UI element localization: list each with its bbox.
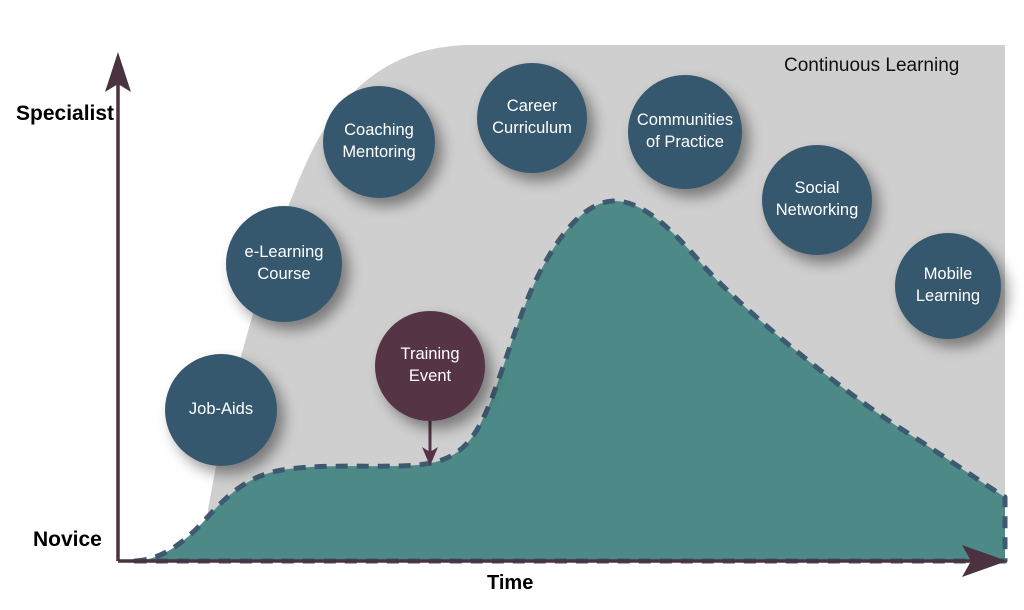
learning-curve-diagram: Continuous Learning Specialist Novice Ti… — [0, 0, 1024, 610]
bubble-label-line: Mobile — [924, 264, 973, 286]
bubble-label-line: Communities — [637, 110, 733, 132]
bubble-label-line: Curriculum — [492, 118, 572, 140]
bubble-label-line: Course — [257, 264, 310, 286]
bubble-label-line: Career — [507, 96, 557, 118]
bubble-label-line: Job-Aids — [189, 399, 253, 421]
bubble-mobile-learning[interactable]: MobileLearning — [895, 233, 1001, 339]
x-axis-label: Time — [487, 572, 533, 595]
bubble-job-aids[interactable]: Job-Aids — [165, 354, 277, 466]
bubble-label-line: Coaching — [344, 120, 414, 142]
bubble-e-learning-course[interactable]: e-LearningCourse — [226, 206, 342, 322]
y-axis-top-label: Specialist — [16, 102, 114, 126]
bubble-label-line: Learning — [916, 286, 980, 308]
bubble-training-event[interactable]: TrainingEvent — [375, 311, 485, 421]
bubble-communities-of-practice[interactable]: Communitiesof Practice — [628, 75, 742, 189]
bubble-coaching-mentoring[interactable]: CoachingMentoring — [323, 86, 435, 198]
bubble-label-line: of Practice — [646, 132, 724, 154]
bubble-social-networking[interactable]: SocialNetworking — [762, 145, 872, 255]
bubble-label-line: Social — [795, 178, 840, 200]
y-axis-bottom-label: Novice — [33, 528, 102, 552]
bubble-label-line: Event — [409, 366, 451, 388]
bubble-label-line: Networking — [776, 200, 859, 222]
bubble-label-line: e-Learning — [245, 242, 324, 264]
bubble-career-curriculum[interactable]: CareerCurriculum — [477, 63, 587, 173]
bubble-label-line: Training — [401, 344, 460, 366]
continuous-learning-label: Continuous Learning — [784, 55, 959, 77]
bubble-label-line: Mentoring — [342, 142, 415, 164]
